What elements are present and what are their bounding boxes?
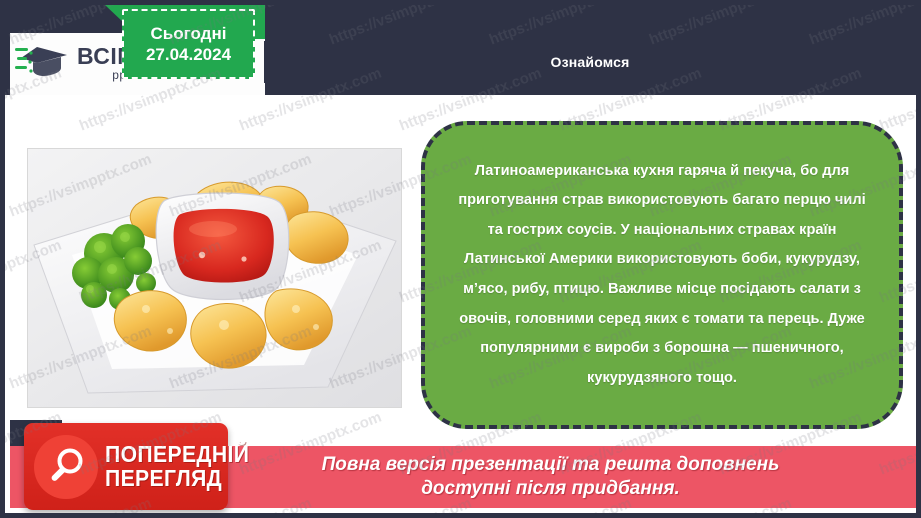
date-badge-value: 27.04.2024 <box>146 44 231 65</box>
content-paragraph: Латиноамериканська кухня гаряча й пекуча… <box>451 157 873 394</box>
page-title: Ознайомся <box>551 54 630 70</box>
brand-logo[interactable]: ВСІМ pptx <box>15 38 135 88</box>
purchase-notice-line2: доступні після придбання. <box>322 477 780 501</box>
food-plate-photo <box>27 148 402 408</box>
date-badge: Сьогодні 27.04.2024 <box>122 9 255 79</box>
content-callout-box: Латиноамериканська кухня гаряча й пекуча… <box>421 121 903 429</box>
purchase-notice-line1: Повна версія презентації та решта доповн… <box>322 453 780 477</box>
slide-title-bar: Ознайомся <box>264 41 916 83</box>
preview-badge[interactable]: ПОПЕРЕДНІЙ ПЕРЕГЛЯД <box>24 423 228 510</box>
preview-badge-line1: ПОПЕРЕДНІЙ <box>105 443 249 466</box>
magnifier-icon <box>34 435 98 499</box>
preview-badge-label: ПОПЕРЕДНІЙ ПЕРЕГЛЯД <box>105 443 262 490</box>
preview-badge-line2: ПЕРЕГЛЯД <box>105 467 249 490</box>
graduation-cap-icon <box>15 41 73 85</box>
presentation-slide: ВСІМ pptx Сьогодні 27.04.2024 Ознайомся <box>0 0 921 518</box>
date-badge-label: Сьогодні <box>151 23 227 44</box>
